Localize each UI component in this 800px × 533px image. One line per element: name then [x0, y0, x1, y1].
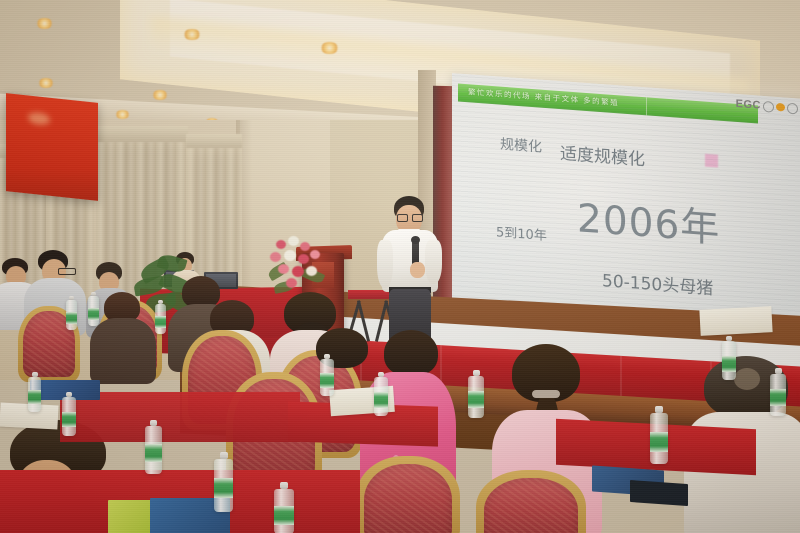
water-bottle: [374, 372, 388, 416]
curtain-valance: [96, 126, 188, 142]
water-bottle: [320, 354, 334, 396]
glasses-icon: [397, 214, 421, 220]
water-bottle: [722, 336, 736, 380]
speaker-arm-right: [425, 240, 442, 284]
downlight-icon: [183, 29, 201, 40]
water-bottle: [274, 482, 294, 533]
downlight-icon: [320, 42, 339, 54]
flower-arrangement: [268, 236, 326, 292]
water-bottle: [145, 420, 162, 474]
balding-crown: [734, 368, 760, 390]
downlight-icon: [38, 78, 54, 88]
water-bottle: [214, 452, 233, 512]
handout-paper: [699, 306, 772, 336]
water-bottle: [468, 370, 484, 418]
banquet-chair: [476, 470, 586, 533]
audience-member: [96, 292, 154, 384]
wall-banner-red: [6, 93, 98, 201]
speaker-arm-left: [377, 240, 393, 288]
speaker-hand: [410, 262, 425, 278]
water-bottle: [155, 300, 166, 334]
water-bottle: [88, 292, 99, 326]
curtain-valance: [186, 134, 242, 148]
downlight-icon: [152, 90, 168, 100]
downlight-icon: [36, 18, 53, 29]
water-bottle: [28, 372, 41, 412]
water-bottle: [62, 392, 76, 436]
water-bottle: [770, 368, 786, 416]
speaker-presenter: [376, 196, 444, 341]
downlight-icon: [115, 110, 130, 119]
water-bottle: [650, 406, 668, 464]
banquet-chair: [356, 456, 460, 533]
glasses-icon: [58, 268, 76, 275]
hair-tie: [532, 390, 560, 398]
booklet: [630, 480, 688, 506]
water-bottle: [66, 296, 77, 330]
conference-photo: 繁忙欢乐的代场 来自于文体 多的繁殖 EGC 规模化 适度规模化 2006年 5…: [0, 0, 800, 533]
